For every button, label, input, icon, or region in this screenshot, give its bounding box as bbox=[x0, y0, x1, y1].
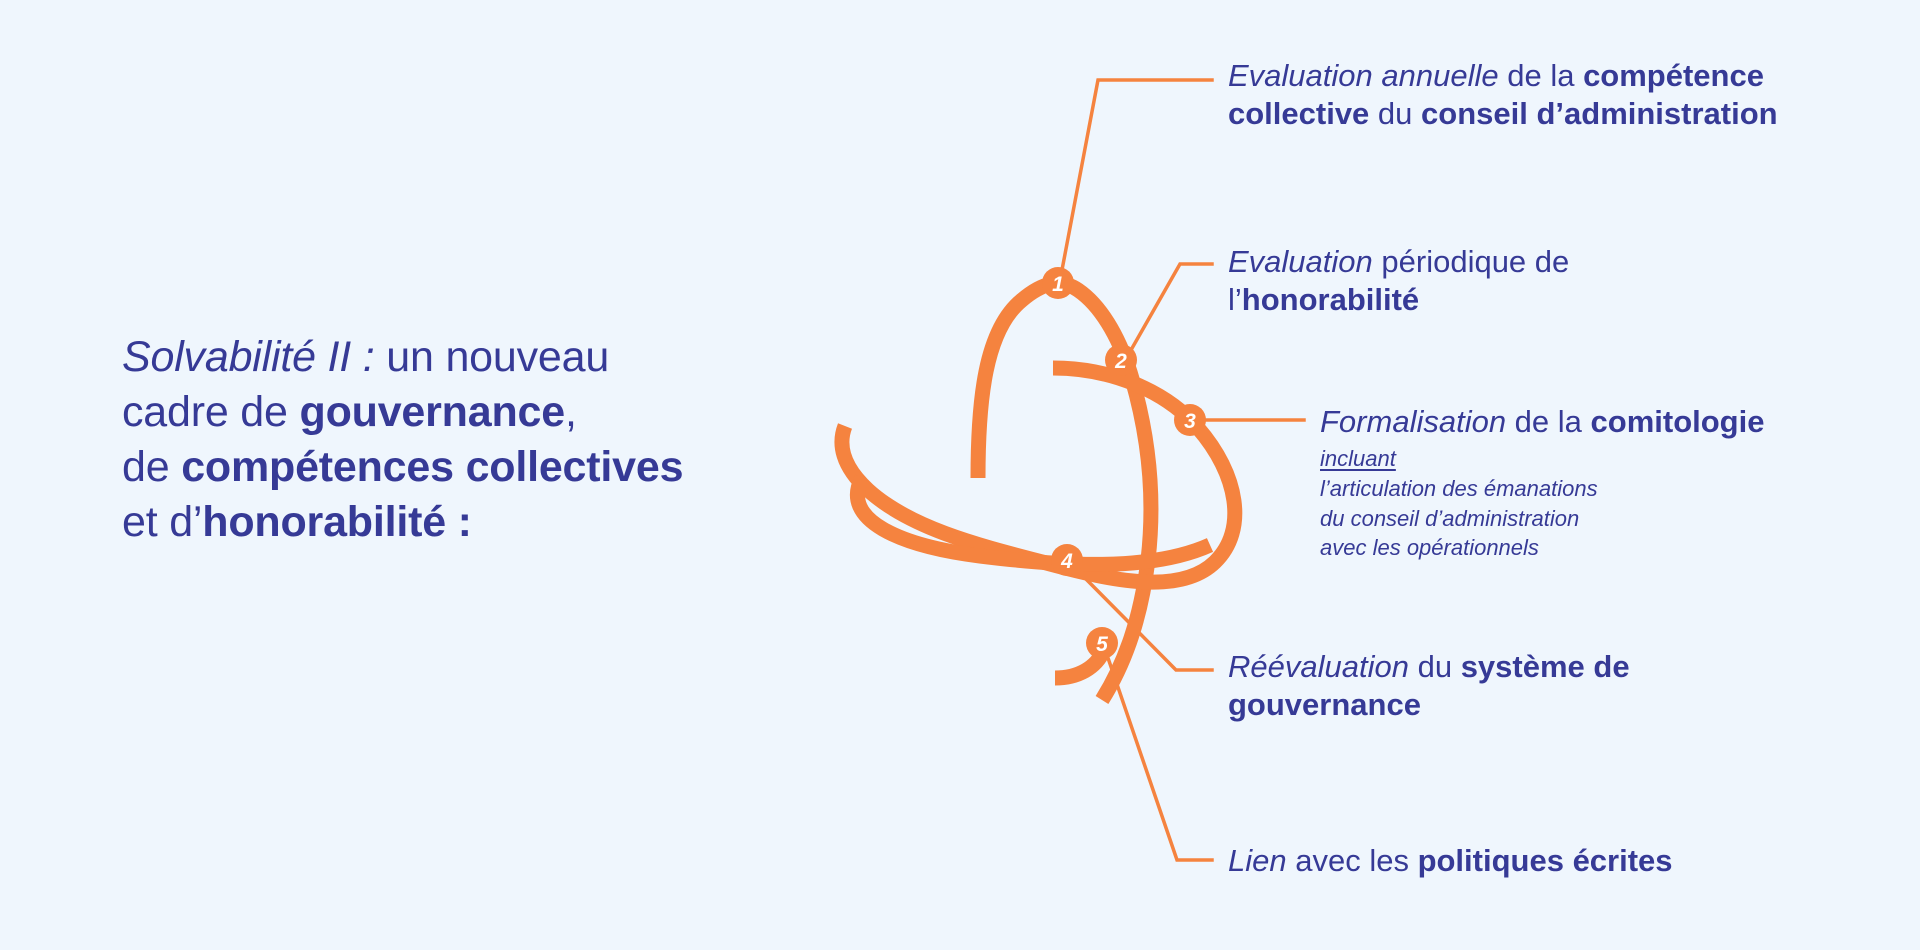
node-5-label: 5 bbox=[1096, 633, 1108, 656]
callout-3-sub-line-3: avec les opérationnels bbox=[1320, 535, 1539, 560]
node-3[interactable]: 3 bbox=[1174, 404, 1206, 436]
callout-4-italic: Réévaluation bbox=[1228, 649, 1409, 684]
callout-5-bold-1: politiques écrites bbox=[1418, 843, 1673, 878]
callout-4-plain-1: du bbox=[1409, 649, 1461, 684]
callout-3-subtext: incluant l’articulation des émanations d… bbox=[1320, 444, 1840, 563]
leader-line-1 bbox=[1062, 80, 1212, 270]
callout-3-sub-underlined: incluant bbox=[1320, 446, 1396, 471]
callout-1: Evaluation annuelle de la compétence col… bbox=[1228, 57, 1868, 133]
callout-4: Réévaluation du système de gouvernance bbox=[1228, 648, 1698, 724]
callout-2: Evaluation périodique de l’honorabilité bbox=[1228, 243, 1688, 319]
node-1[interactable]: 1 bbox=[1042, 267, 1074, 299]
callout-1-plain-1: de la bbox=[1499, 58, 1583, 93]
callout-3: Formalisation de la comitologie incluant… bbox=[1320, 403, 1840, 563]
callout-3-italic: Formalisation bbox=[1320, 404, 1506, 439]
node-1-label: 1 bbox=[1052, 273, 1064, 296]
callout-2-bold-1: honorabilité bbox=[1242, 282, 1419, 317]
node-4[interactable]: 4 bbox=[1051, 544, 1083, 576]
node-3-label: 3 bbox=[1184, 410, 1196, 433]
callout-1-bold-2: conseil d’administration bbox=[1421, 96, 1778, 131]
node-2-label: 2 bbox=[1114, 350, 1127, 373]
callout-5-plain-1: avec les bbox=[1287, 843, 1418, 878]
callout-2-italic: Evaluation bbox=[1228, 244, 1373, 279]
callout-3-sub-line-1: l’articulation des émanations bbox=[1320, 476, 1598, 501]
callout-5-italic: Lien bbox=[1228, 843, 1287, 878]
callout-3-plain-1: de la bbox=[1506, 404, 1590, 439]
leader-line-5 bbox=[1108, 658, 1212, 860]
leader-line-2 bbox=[1131, 264, 1212, 350]
callout-1-italic: Evaluation annuelle bbox=[1228, 58, 1499, 93]
leader-lines bbox=[1062, 80, 1304, 860]
node-2[interactable]: 2 bbox=[1105, 344, 1137, 376]
callout-3-bold-1: comitologie bbox=[1591, 404, 1765, 439]
node-5[interactable]: 5 bbox=[1086, 627, 1118, 659]
callout-1-plain-2: du bbox=[1369, 96, 1421, 131]
callout-3-sub-line-2: du conseil d’administration bbox=[1320, 506, 1579, 531]
node-4-label: 4 bbox=[1060, 550, 1073, 573]
swirl-strokes bbox=[842, 283, 1235, 700]
callout-5: Lien avec les politiques écrites bbox=[1228, 842, 1768, 880]
swirl-nodes: 1 2 3 4 5 bbox=[1042, 267, 1206, 659]
infographic-canvas: Solvabilité II : un nouveau cadre de gou… bbox=[0, 0, 1920, 950]
